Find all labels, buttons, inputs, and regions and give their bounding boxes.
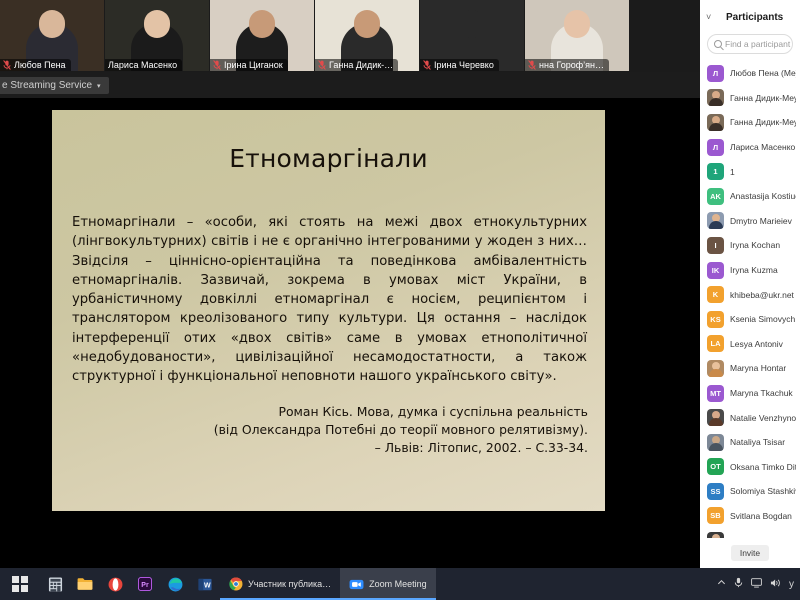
tile-participant-name: Ірина Черевко <box>434 60 494 70</box>
participant-name: Anastasija Kostiučenk <box>730 191 796 201</box>
participant-name: Ганна Дидик-Меу… ( <box>730 117 796 127</box>
video-filmstrip: Любов ПенаЛариса МасенкоІрина ЦиганокГан… <box>0 0 700 72</box>
avatar <box>707 434 724 451</box>
avatar: Л <box>707 65 724 82</box>
avatar: IK <box>707 262 724 279</box>
avatar: SS <box>707 483 724 500</box>
tile-participant-name: Ірина Циганок <box>224 60 283 70</box>
participant-row[interactable]: SSSolomiya Stashkiv <box>700 479 800 504</box>
avatar <box>707 212 724 229</box>
avatar <box>707 114 724 131</box>
source-line-2: (від Олександра Потебні до теорії мовног… <box>52 421 588 439</box>
participant-name: khibeba@ukr.net <box>730 290 794 300</box>
svg-text:Pr: Pr <box>141 582 149 589</box>
participant-row[interactable]: ЛЛюбов Пена (Me) <box>700 61 800 86</box>
participant-name: Maryna Hontar <box>730 363 786 373</box>
avatar: 1 <box>707 163 724 180</box>
mic-muted-icon <box>213 60 221 70</box>
video-tile[interactable]: Любов Пена <box>0 0 104 71</box>
video-tile[interactable]: нна Гороф’ян… <box>525 0 629 71</box>
source-line-3: – Львів: Літопис, 2002. – С.33-34. <box>52 439 588 457</box>
slide-body-text: Етномаргінали – «особи, які стоять на ме… <box>72 213 587 386</box>
participant-row[interactable]: Nataliya Tsisar <box>700 430 800 455</box>
video-tile[interactable]: Ірина Циганок <box>210 0 314 71</box>
chevron-down-icon[interactable]: ˅ <box>706 12 711 22</box>
avatar <box>707 360 724 377</box>
tile-name-bar: Ірина Циганок <box>210 59 288 71</box>
avatar <box>707 409 724 426</box>
participant-row[interactable]: MTMaryna Tkachuk <box>700 381 800 406</box>
participant-head <box>564 10 590 38</box>
tile-name-bar: Лариса Масенко <box>105 59 182 71</box>
zoom-icon <box>349 578 364 591</box>
tile-name-bar: Ганна Дидик-… <box>315 59 398 71</box>
video-tile[interactable]: Ірина Черевко <box>420 0 524 71</box>
zoom-meeting-window: Любов ПенаЛариса МасенкоІрина ЦиганокГан… <box>0 0 800 600</box>
participant-row[interactable]: Maryna Hontar <box>700 356 800 381</box>
search-icon <box>714 40 722 48</box>
taskbar-window-label: Zoom Meeting <box>369 579 427 589</box>
system-tray: у <box>717 577 800 591</box>
participant-name: Лариса Масенко <box>730 142 795 152</box>
participant-row[interactable]: Ганна Дидик-Меуш ( <box>700 86 800 111</box>
participant-head <box>144 10 170 38</box>
streaming-service-label: e Streaming Service <box>2 80 92 91</box>
mic-muted-icon <box>3 60 11 70</box>
avatar <box>707 532 724 538</box>
participant-name: Solomiya Stashkiv <box>730 486 796 496</box>
svg-text:W: W <box>204 582 211 589</box>
participant-name: Nataliya Tsisar <box>730 437 785 447</box>
participant-name: Любов Пена (Me) <box>730 68 796 78</box>
participant-row[interactable]: AKAnastasija Kostiučenk <box>700 184 800 209</box>
participant-row[interactable]: Natalie Venzhynovych <box>700 405 800 430</box>
participant-name: 1 <box>730 167 735 177</box>
slide-source-citation: Роман Кісь. Мова, думка і суспільна реал… <box>52 403 588 456</box>
participant-row[interactable]: ЛЛариса Масенко <box>700 135 800 160</box>
participants-panel: ˅ Participants Find a participant ЛЛюбов… <box>700 0 800 568</box>
participants-header: ˅ Participants <box>700 0 800 34</box>
participant-row[interactable]: Dmytro Marieiev <box>700 209 800 234</box>
chrome-icon <box>229 577 243 591</box>
tile-participant-name: нна Гороф’ян… <box>539 60 604 70</box>
video-tile[interactable]: Ганна Дидик-… <box>315 0 419 71</box>
microphone-icon[interactable] <box>734 577 743 591</box>
participant-row[interactable]: KSKsenia Simovych <box>700 307 800 332</box>
avatar: Л <box>707 139 724 156</box>
participant-row[interactable]: 11 <box>700 159 800 184</box>
taskbar-pinned-icons: PrW <box>40 568 220 600</box>
participant-row[interactable]: Kkhibeba@ukr.net <box>700 282 800 307</box>
participant-name: Ksenia Simovych <box>730 314 795 324</box>
mic-muted-icon <box>423 60 431 70</box>
participant-row[interactable]: LALesya Antoniv <box>700 332 800 357</box>
video-tile[interactable]: Лариса Масенко <box>105 0 209 71</box>
participant-head <box>249 10 275 38</box>
file-explorer-icon[interactable] <box>70 568 100 600</box>
search-input-placeholder[interactable]: Find a participant <box>725 39 790 49</box>
avatar: MT <box>707 385 724 402</box>
participant-row[interactable]: IKIryna Kuzma <box>700 258 800 283</box>
participant-name: Ганна Дидик-Меуш ( <box>730 93 796 103</box>
participant-row[interactable]: IIryna Kochan <box>700 233 800 258</box>
calculator-icon[interactable] <box>40 568 70 600</box>
mic-muted-icon <box>528 60 536 70</box>
participant-row[interactable]: SBSvitlana Bogdan <box>700 504 800 529</box>
participant-row[interactable]: OTOksana Timko Ditko <box>700 455 800 480</box>
tile-participant-name: Ганна Дидик-… <box>329 60 393 70</box>
participant-head <box>354 10 380 38</box>
edge-icon[interactable] <box>160 568 190 600</box>
participants-list[interactable]: ЛЛюбов Пена (Me)Ганна Дидик-Меуш (Ганна … <box>700 61 800 538</box>
windows-start-icon[interactable] <box>0 568 40 600</box>
participants-footer: Invite <box>700 538 800 568</box>
participant-row[interactable]: Ганна Дидик-Меу… ( <box>700 110 800 135</box>
chevron-down-icon[interactable]: ▾ <box>97 82 101 90</box>
avatar: K <box>707 286 724 303</box>
premiere-pro-icon[interactable]: Pr <box>130 568 160 600</box>
slide-paragraph: Етномаргінали – «особи, які стоять на ме… <box>72 213 587 386</box>
avatar: LA <box>707 335 724 352</box>
participant-name: Maryna Tkachuk <box>730 388 793 398</box>
tile-participant-name: Лариса Масенко <box>108 60 177 70</box>
participant-name: Iryna Kuzma <box>730 265 778 275</box>
monitor-icon[interactable] <box>751 578 762 591</box>
tile-name-bar: Ірина Черевко <box>420 59 499 71</box>
windows-taskbar: PrW Участник публика…Zoom Meeting у <box>0 568 800 600</box>
participants-title: Participants <box>715 12 794 23</box>
avatar: AK <box>707 188 724 205</box>
slide-title: Етномаргінали <box>52 144 605 173</box>
invite-button[interactable]: Invite <box>731 545 769 561</box>
tile-name-bar: нна Гороф’ян… <box>525 59 609 71</box>
avatar <box>707 89 724 106</box>
participants-search-box[interactable]: Find a participant <box>707 34 793 54</box>
taskbar-window-button[interactable]: Zoom Meeting <box>340 568 436 600</box>
presentation-slide: Етномаргінали Етномаргінали – «особи, як… <box>52 110 605 511</box>
avatar: SB <box>707 507 724 524</box>
shared-screen-area: Етномаргінали Етномаргінали – «особи, як… <box>0 98 700 568</box>
source-line-1: Роман Кісь. Мова, думка і суспільна реал… <box>52 403 588 421</box>
taskbar-windows: Участник публика…Zoom Meeting <box>220 568 436 600</box>
volume-icon[interactable] <box>770 578 781 591</box>
tile-name-bar: Любов Пена <box>0 59 71 71</box>
word-icon[interactable]: W <box>190 568 220 600</box>
participant-head <box>459 10 485 38</box>
participant-name: Oksana Timko Ditko <box>730 462 796 472</box>
participant-name: Dmytro Marieiev <box>730 216 792 226</box>
tile-participant-name: Любов Пена <box>14 60 66 70</box>
mic-muted-icon <box>318 60 326 70</box>
avatar: OT <box>707 458 724 475</box>
participant-name: Svitlana Bogdan <box>730 511 792 521</box>
opera-icon[interactable] <box>100 568 130 600</box>
taskbar-window-button[interactable]: Участник публика… <box>220 568 340 600</box>
participant-name: Iryna Kochan <box>730 240 780 250</box>
participant-row[interactable]: Tetiana Orshynska <box>700 528 800 538</box>
streaming-service-indicator[interactable]: e Streaming Service ▾ <box>0 77 109 94</box>
participant-name: Natalie Venzhynovych <box>730 413 796 423</box>
language-icon[interactable]: у <box>789 579 794 590</box>
chevron-up-icon[interactable] <box>717 578 726 590</box>
avatar: I <box>707 237 724 254</box>
avatar: KS <box>707 311 724 328</box>
participant-head <box>39 10 65 38</box>
participant-name: Lesya Antoniv <box>730 339 783 349</box>
taskbar-window-label: Участник публика… <box>248 579 331 589</box>
